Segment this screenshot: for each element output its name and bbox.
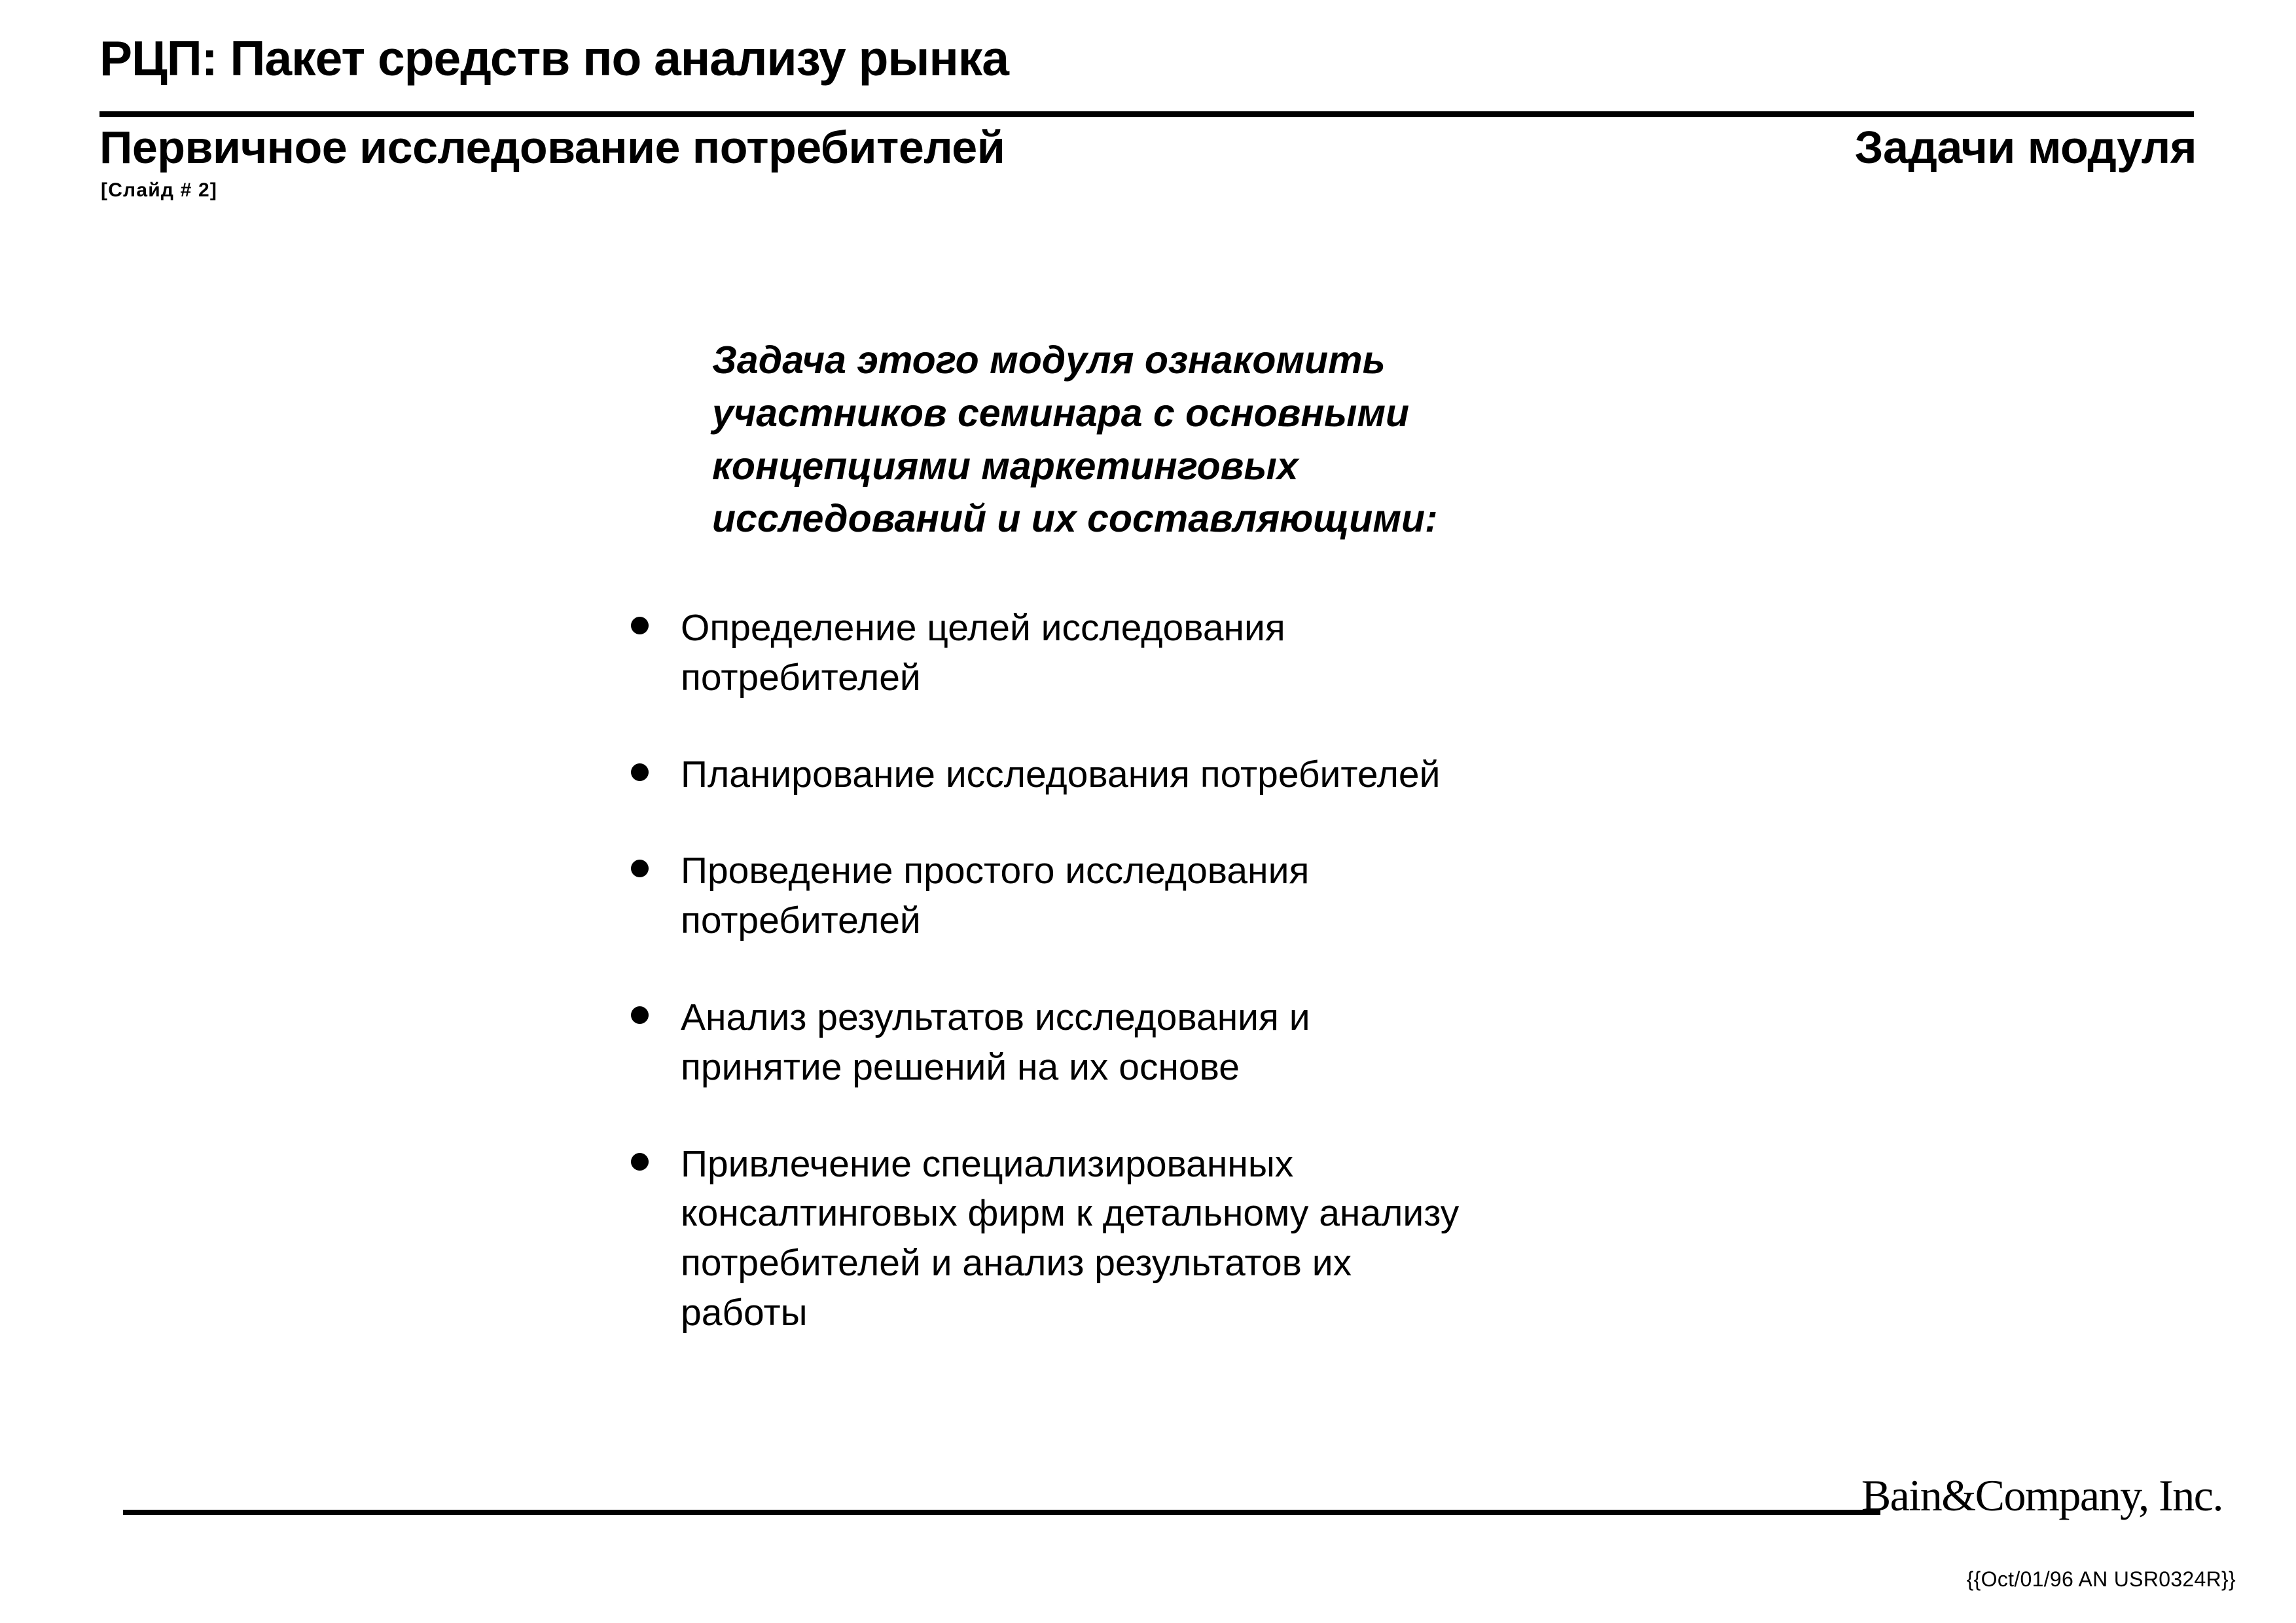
list-item-line: Планирование исследования потребителей	[681, 750, 1806, 800]
list-item-text: Анализ результатов исследования и принят…	[681, 993, 1806, 1093]
list-item-text: Привлечение специализированных консалтин…	[681, 1140, 1806, 1338]
list-item-line: потребителей	[681, 653, 1806, 703]
intro-paragraph: Задача этого модуля ознакомить участнико…	[712, 334, 1641, 545]
header-divider	[99, 111, 2194, 117]
intro-line: концепциями маркетинговых	[712, 440, 1641, 493]
list-item-line: консалтинговых фирм к детальному анализу	[681, 1189, 1806, 1239]
page-title: РЦП: Пакет средств по анализу рынка	[99, 34, 1009, 83]
header-subtitle-left: Первичное исследование потребителей	[99, 124, 1005, 170]
list-item: Проведение простого исследования потреби…	[628, 847, 1806, 946]
slide-canvas: РЦП: Пакет средств по анализу рынка Перв…	[0, 0, 2296, 1623]
list-item-line: Анализ результатов исследования и	[681, 993, 1806, 1043]
bullet-dot-icon	[631, 617, 649, 634]
intro-line: исследований и их составляющими:	[712, 492, 1641, 545]
bullet-dot-icon	[631, 860, 649, 877]
list-item-line: принятие решений на их основе	[681, 1043, 1806, 1093]
list-item-line: работы	[681, 1288, 1806, 1338]
intro-line: участников семинара с основными	[712, 387, 1641, 440]
list-item-line: Привлечение специализированных	[681, 1140, 1806, 1190]
list-item: Планирование исследования потребителей	[628, 750, 1806, 800]
slide-number-label: [Слайд # 2]	[101, 181, 217, 200]
list-item-text: Планирование исследования потребителей	[681, 750, 1806, 800]
bullet-dot-icon	[631, 763, 649, 781]
bullet-list: Определение целей исследования потребите…	[628, 604, 1806, 1385]
list-item-line: Определение целей исследования	[681, 604, 1806, 653]
list-item-text: Проведение простого исследования потреби…	[681, 847, 1806, 946]
list-item: Анализ результатов исследования и принят…	[628, 993, 1806, 1093]
list-item-line: Проведение простого исследования	[681, 847, 1806, 896]
bain-company-logo: Bain&Company, Inc.	[1861, 1473, 2223, 1518]
list-item-text: Определение целей исследования потребите…	[681, 604, 1806, 703]
list-item-line: потребителей и анализ результатов их	[681, 1239, 1806, 1288]
header-subtitle-right: Задачи модуля	[1855, 124, 2197, 170]
bullet-dot-icon	[631, 1153, 649, 1171]
list-item: Привлечение специализированных консалтин…	[628, 1140, 1806, 1338]
document-code: {{Oct/01/96 AN USR0324R}}	[1967, 1569, 2236, 1590]
footer-divider	[123, 1510, 1880, 1515]
list-item: Определение целей исследования потребите…	[628, 604, 1806, 703]
intro-line: Задача этого модуля ознакомить	[712, 334, 1641, 387]
list-item-line: потребителей	[681, 896, 1806, 946]
bullet-dot-icon	[631, 1006, 649, 1024]
